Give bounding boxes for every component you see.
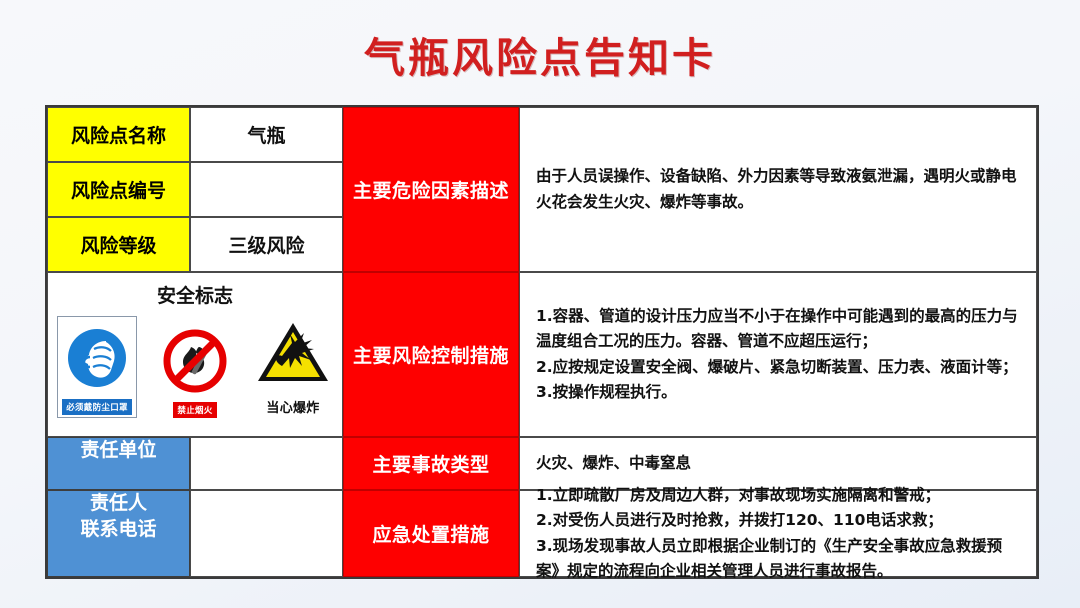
header-emergency-measures: 应急处置措施 — [343, 490, 519, 577]
dust-mask-icon — [66, 320, 128, 396]
control-measure-item: 1.容器、管道的设计压力应当不小于在操作中可能遇到的最高的压力与温度组合工况的压… — [536, 304, 1022, 354]
dust-mask-sign-frame: 必须戴防尘口罩 — [57, 316, 137, 418]
table-row-basic-info: 风险点名称 气瓶 风险点编号 风险等级 三级风险 主要危险因素描述 由于人员误操… — [47, 107, 1037, 272]
table-row-risk-code: 风险点编号 — [47, 162, 343, 217]
control-measure-item: 2.应按规定设置安全阀、爆破片、紧急切断装置、压力表、液面计等； — [536, 355, 1022, 380]
safety-sign-explosion: 当心爆炸 — [251, 314, 335, 418]
header-accident-type: 主要事故类型 — [343, 437, 519, 490]
safety-signs-title: 安全标志 — [157, 281, 233, 308]
dust-mask-sign-caption: 必须戴防尘口罩 — [62, 399, 132, 415]
table-row-risk-level: 风险等级 三级风险 — [47, 217, 343, 272]
no-open-flame-sign-caption: 禁止烟火 — [173, 402, 216, 418]
safety-signs-panel: 安全标志 — [47, 272, 343, 437]
header-hazard-description: 主要危险因素描述 — [343, 107, 519, 272]
explosion-warning-icon — [256, 314, 330, 390]
risk-info-table: 风险点名称 气瓶 风险点编号 风险等级 三级风险 主要危险因素描述 由于人员误操… — [45, 105, 1039, 579]
value-responsible-unit[interactable] — [190, 437, 343, 490]
emergency-measure-item: 1.立即疏散厂房及周边人群，对事故现场实施隔离和警戒； — [536, 483, 1022, 508]
explosion-warning-sign-caption: 当心爆炸 — [262, 395, 323, 418]
hazard-description-text: 由于人员误操作、设备缺陷、外力因素等导致液氨泄漏，遇明火或静电火花会发生火灾、爆… — [536, 164, 1022, 214]
value-risk-name[interactable]: 气瓶 — [190, 107, 343, 162]
safety-signs-row: 必须戴防尘口罩 — [48, 314, 342, 418]
page-title: 气瓶风险点告知卡 — [0, 24, 1080, 84]
label-risk-name: 风险点名称 — [47, 107, 190, 162]
content-accident-type: 火灾、爆炸、中毒窒息 — [519, 437, 1037, 490]
value-risk-code[interactable] — [190, 162, 343, 217]
safety-sign-dust-mask: 必须戴防尘口罩 — [55, 316, 139, 418]
label-risk-code: 风险点编号 — [47, 162, 190, 217]
content-hazard-description: 由于人员误操作、设备缺陷、外力因素等导致液氨泄漏，遇明火或静电火花会发生火灾、爆… — [519, 107, 1037, 272]
label-responsible-person-line2: 联系电话 — [48, 517, 189, 543]
value-risk-level[interactable]: 三级风险 — [190, 217, 343, 272]
accident-type-text: 火灾、爆炸、中毒窒息 — [536, 451, 691, 476]
safety-sign-no-flame: 禁止烟火 — [153, 323, 237, 418]
header-control-measures: 主要风险控制措施 — [343, 272, 519, 437]
basic-info-label-stack: 风险点名称 气瓶 风险点编号 风险等级 三级风险 — [47, 107, 343, 272]
label-risk-level: 风险等级 — [47, 217, 190, 272]
table-row-responsible-person: 责任人 联系电话 应急处置措施 1.立即疏散厂房及周边人群，对事故现场实施隔离和… — [47, 490, 1037, 577]
table-row-responsible-unit: 责任单位 主要事故类型 火灾、爆炸、中毒窒息 — [47, 437, 1037, 490]
value-responsible-person-phone[interactable] — [190, 490, 343, 577]
emergency-measure-item: 2.对受伤人员进行及时抢救，并拨打120、110电话求救； — [536, 508, 1022, 533]
content-control-measures: 1.容器、管道的设计压力应当不小于在操作中可能遇到的最高的压力与温度组合工况的压… — [519, 272, 1037, 437]
emergency-measure-item: 3.现场发现事故人员立即根据企业制订的《生产安全事故应急救援预案》规定的流程向企… — [536, 534, 1022, 584]
control-measure-item: 3.按操作规程执行。 — [536, 380, 1022, 405]
label-responsible-person-line1: 责任人 — [48, 491, 189, 517]
table-row-risk-name: 风险点名称 气瓶 — [47, 107, 343, 162]
label-responsible-person-phone: 责任人 联系电话 — [47, 490, 190, 577]
label-responsible-unit: 责任单位 — [47, 437, 190, 490]
risk-notice-card-page: 气瓶风险点告知卡 风险点名称 气瓶 风险点编号 风险等级 三级风险 主要危险因素… — [0, 0, 1080, 608]
content-emergency-measures: 1.立即疏散厂房及周边人群，对事故现场实施隔离和警戒； 2.对受伤人员进行及时抢… — [519, 490, 1037, 577]
table-row-control-measures: 安全标志 — [47, 272, 1037, 437]
no-open-flame-icon — [161, 323, 229, 399]
